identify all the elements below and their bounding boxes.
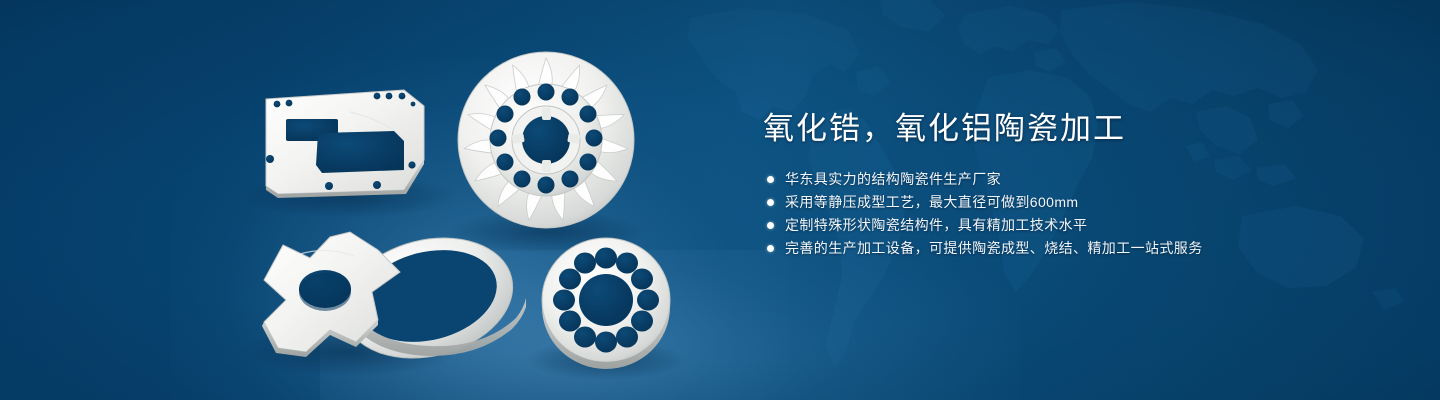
feature-list: 华东具实力的结构陶瓷件生产厂家 采用等静压成型工艺，最大直径可做到600mm 定… [767,168,1403,260]
banner-text-block: 氧化锆，氧化铝陶瓷加工 华东具实力的结构陶瓷件生产厂家 采用等静压成型工艺，最大… [763,108,1403,260]
feature-text: 华东具实力的结构陶瓷件生产厂家 [785,168,1001,191]
bullet-dot-icon [767,222,774,229]
bullet-dot-icon [767,245,774,252]
feature-text: 定制特殊形状陶瓷结构件，具有精加工技术水平 [785,214,1087,237]
bullet-dot-icon [767,199,774,206]
list-item: 定制特殊形状陶瓷结构件，具有精加工技术水平 [767,214,1403,237]
ceramic-impeller-disc [458,52,634,228]
bullet-dot-icon [767,176,774,183]
list-item: 华东具实力的结构陶瓷件生产厂家 [767,168,1403,191]
feature-text: 采用等静压成型工艺，最大直径可做到600mm [785,191,1078,214]
ceramic-products-photo [0,0,760,400]
list-item: 完善的生产加工设备，可提供陶瓷成型、烧结、精加工一站式服务 [767,237,1403,260]
page-title: 氧化锆，氧化铝陶瓷加工 [763,108,1403,150]
ceramic-machined-plate [266,90,424,198]
hero-banner: 氧化锆，氧化铝陶瓷加工 华东具实力的结构陶瓷件生产厂家 采用等静压成型工艺，最大… [0,0,1440,400]
ceramic-perforated-disc [542,238,670,369]
list-item: 采用等静压成型工艺，最大直径可做到600mm [767,191,1403,214]
feature-text: 完善的生产加工设备，可提供陶瓷成型、烧结、精加工一站式服务 [785,237,1203,260]
